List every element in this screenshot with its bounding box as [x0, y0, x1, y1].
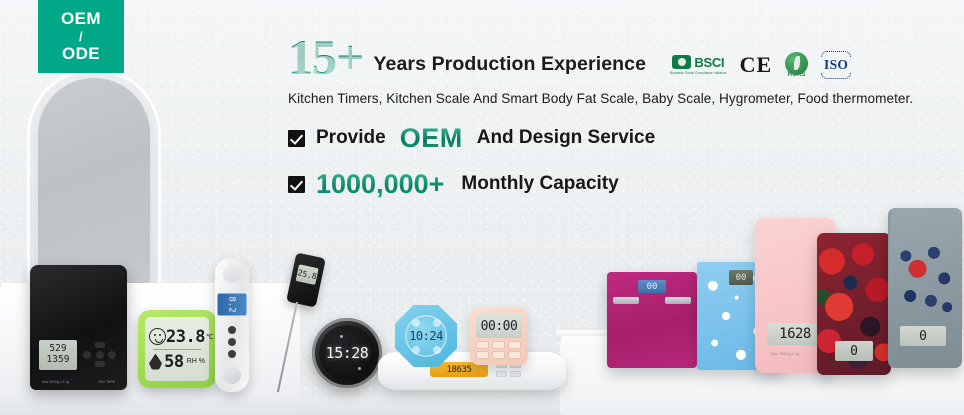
checkmark-icon: [288, 176, 305, 193]
oem-ode-badge: OEM / ODE: [38, 0, 124, 73]
badge-line-2: ODE: [62, 44, 100, 64]
black-scale-value-2: 1359: [47, 355, 70, 366]
badge-line-1: OEM: [61, 9, 101, 29]
berry-print-kitchen-scale: 0: [817, 233, 891, 375]
round-magnetic-timer: 15:28: [312, 318, 382, 388]
round-timer-display: 15:28: [326, 344, 369, 362]
wood-berry-scale-display: 0: [900, 326, 946, 346]
bullet-monthly-capacity: 1000,000+ Monthly Capacity: [288, 169, 960, 200]
white-folding-thermometer: 8.2: [215, 258, 249, 392]
round-timer-face: 15:28: [319, 325, 375, 381]
black-scale-spec-left: Max 5000g x 0.1g: [42, 380, 69, 384]
iso-logo: ISO: [821, 51, 851, 79]
certification-logos: BSCI Business Social Compliance Initiati…: [670, 51, 851, 79]
iso-label: ISO: [824, 57, 848, 73]
ce-logo: CE: [740, 52, 773, 78]
bullet-1-pre: Provide: [316, 127, 386, 149]
text-content-block: 15+ Years Production Experience BSCI Bus…: [288, 34, 960, 200]
rohs-logo: RoHS: [785, 52, 808, 78]
hygrometer-temperature: 23.8: [166, 327, 205, 347]
black-scale-display: 529 1359: [39, 340, 77, 370]
iso-arc-bottom-icon: [821, 73, 851, 79]
blue-timer-control-1[interactable]: [412, 319, 420, 327]
magenta-body-fat-scale: 00: [607, 272, 697, 368]
smiley-face-icon: [149, 328, 166, 345]
wood-berry-print-kitchen-scale: 0: [888, 208, 962, 368]
thermometer-button-2[interactable]: [228, 338, 236, 346]
hygrometer-divider: [153, 349, 201, 350]
magenta-scale-display: 00: [638, 280, 666, 293]
floor-line: [0, 398, 560, 415]
hygrometer-humidity-unit: RH %: [187, 358, 205, 365]
rohs-leaf-icon: [785, 52, 808, 75]
headline-text: Years Production Experience: [374, 53, 647, 76]
years-number: 15+: [288, 34, 364, 82]
electrode-right: [665, 297, 691, 304]
pink-timer-display: 00:00: [476, 314, 522, 338]
bullet-2-highlight: 1000,000+: [316, 169, 444, 200]
electrode-left: [613, 297, 639, 304]
feature-bullets: Provide OEM And Design Service 1000,000+…: [288, 123, 960, 200]
round-timer-indicator-bottom: [358, 367, 361, 370]
hygrometer-humidity: 58: [164, 352, 183, 372]
promotional-banner: OEM / ODE 15+ Years Production Experienc…: [0, 0, 964, 415]
bsci-row: BSCI: [672, 55, 724, 70]
hygrometer-temp-unit: ℃: [206, 333, 214, 341]
pink-timer-buttons: [476, 341, 522, 358]
pink-scale-spec: Max 5000g x 1g: [771, 351, 799, 356]
bsci-label: BSCI: [694, 55, 724, 70]
hygrometer-display: 23.8 ℃ 58 RH %: [145, 317, 209, 381]
berry-scale-display: 0: [835, 341, 873, 361]
pink-scale-display: 1628: [767, 323, 823, 345]
blue-timer-control-3[interactable]: [412, 346, 420, 354]
headline-row: 15+ Years Production Experience BSCI Bus…: [288, 34, 960, 84]
blue-timer-control-2[interactable]: [433, 319, 441, 327]
probe-body: 25.8: [286, 252, 326, 307]
round-timer-indicator-top: [340, 335, 343, 338]
bullet-2-post: Monthly Capacity: [461, 173, 618, 195]
thermometer-button-1[interactable]: [228, 326, 236, 334]
thermometer-button-3[interactable]: [228, 350, 236, 358]
bullet-1-highlight: OEM: [397, 123, 466, 154]
blue-timer-display: 10:24: [409, 329, 443, 343]
checkmark-icon: [288, 130, 305, 147]
bullet-1-post: And Design Service: [477, 127, 655, 149]
probe-display: 25.8: [296, 264, 319, 285]
black-scale-spec-right: ON / TARE: [98, 380, 115, 384]
bsci-subtitle: Business Social Compliance Initiative: [670, 71, 727, 75]
hygrometer-humidity-row: 58 RH %: [149, 352, 205, 372]
thermometer-hinge-top: [223, 265, 241, 283]
blue-scale-display: 00: [729, 270, 753, 285]
thermometer-hinge-bottom: [223, 366, 241, 384]
bsci-mark-icon: [672, 55, 691, 69]
arch-niche-decoration: [38, 78, 150, 283]
black-scale-buttons: [83, 342, 117, 368]
bsci-logo: BSCI Business Social Compliance Initiati…: [670, 55, 727, 75]
green-hygrometer: 23.8 ℃ 58 RH %: [138, 310, 216, 388]
pink-kitchen-timer: 00:00: [470, 308, 528, 365]
baby-scale-value: 18635: [446, 365, 471, 375]
product-categories-text: Kitchen Timers, Kitchen Scale And Smart …: [288, 91, 960, 106]
water-drop-icon: [149, 354, 162, 370]
white-thermometer-display: 8.2: [218, 294, 247, 316]
badge-slash: /: [79, 29, 83, 44]
black-kitchen-scale: 529 1359 Max 5000g x 0.1g ON / TARE: [30, 265, 127, 390]
bullet-oem-service: Provide OEM And Design Service: [288, 123, 960, 154]
blue-timer-control-4[interactable]: [433, 346, 441, 354]
ce-label: CE: [740, 52, 773, 78]
hygrometer-temp-row: 23.8 ℃: [149, 327, 205, 347]
black-probe-thermometer: 25.8: [283, 255, 323, 395]
